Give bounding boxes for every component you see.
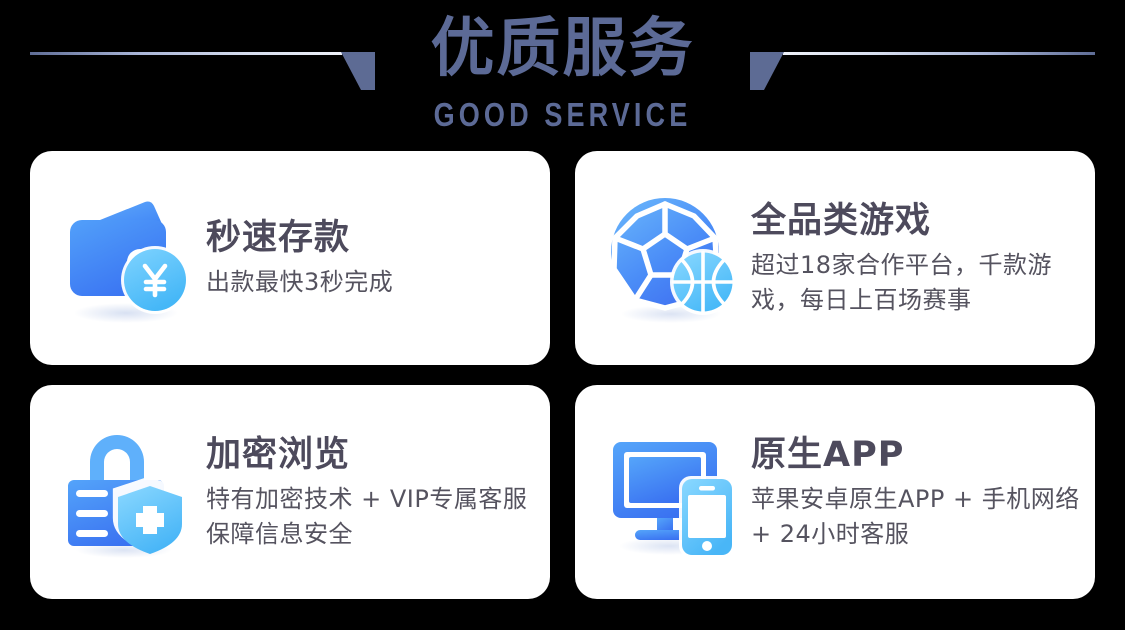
card-title: 全品类游戏 bbox=[751, 199, 1081, 243]
card-text-block: 原生APP 苹果安卓原生APP + 手机网络 + 24小时客服 bbox=[743, 433, 1095, 552]
card-text-block: 秒速存款 出款最快3秒完成 bbox=[198, 216, 550, 300]
feature-card-grid: 秒速存款 出款最快3秒完成 bbox=[30, 151, 1095, 599]
card-text-block: 全品类游戏 超过18家合作平台，千款游戏，每日上百场赛事 bbox=[743, 199, 1095, 318]
card-description: 出款最快3秒完成 bbox=[206, 265, 536, 300]
good-service-banner: 优质服务 GOOD SERVICE bbox=[0, 0, 1125, 630]
banner-header: 优质服务 GOOD SERVICE bbox=[0, 0, 1125, 145]
card-description: 超过18家合作平台，千款游戏，每日上百场赛事 bbox=[751, 248, 1081, 318]
wallet-yen-icon bbox=[62, 190, 198, 326]
lock-shield-icon bbox=[62, 424, 198, 560]
feature-card-encryption[interactable]: 加密浏览 特有加密技术 + VIP专属客服保障信息安全 bbox=[30, 385, 550, 599]
feature-card-deposit[interactable]: 秒速存款 出款最快3秒完成 bbox=[30, 151, 550, 365]
card-title: 秒速存款 bbox=[206, 216, 536, 260]
card-title: 原生APP bbox=[751, 433, 1081, 477]
card-description: 苹果安卓原生APP + 手机网络 + 24小时客服 bbox=[751, 482, 1081, 552]
monitor-phone-icon bbox=[607, 424, 743, 560]
feature-card-games[interactable]: 全品类游戏 超过18家合作平台，千款游戏，每日上百场赛事 bbox=[575, 151, 1095, 365]
feature-card-native-app[interactable]: 原生APP 苹果安卓原生APP + 手机网络 + 24小时客服 bbox=[575, 385, 1095, 599]
card-text-block: 加密浏览 特有加密技术 + VIP专属客服保障信息安全 bbox=[198, 433, 550, 552]
card-title: 加密浏览 bbox=[206, 433, 536, 477]
page-title: 优质服务 bbox=[0, 10, 1125, 88]
soccer-basketball-icon bbox=[607, 190, 743, 326]
card-description: 特有加密技术 + VIP专属客服保障信息安全 bbox=[206, 482, 536, 552]
page-subtitle: GOOD SERVICE bbox=[101, 96, 1024, 134]
